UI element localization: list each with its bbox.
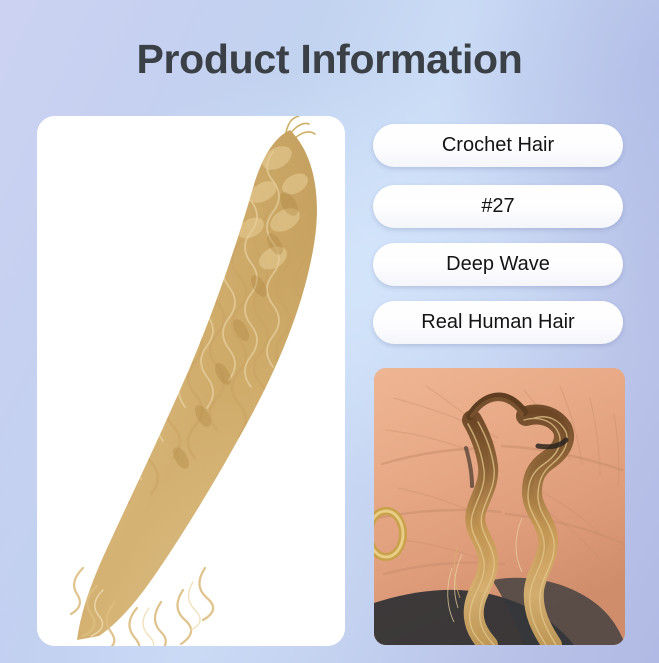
spec-pill-label: Deep Wave [446, 253, 550, 276]
page-title: Product Information [0, 36, 659, 83]
product-image-card [37, 116, 345, 646]
blonde-deep-wave-hair-bundle-icon [37, 116, 345, 646]
spec-pill-material[interactable]: Real Human Hair [373, 301, 623, 344]
spec-pill-color[interactable]: #27 [373, 185, 623, 228]
spec-pill-label: Crochet Hair [442, 134, 554, 157]
spec-pill-label: #27 [481, 195, 514, 218]
spec-pill-label: Real Human Hair [421, 311, 574, 334]
detail-photo-card [374, 368, 625, 645]
spec-pill-crochet-hair[interactable]: Crochet Hair [373, 124, 623, 167]
product-information-page: Product Information [0, 0, 659, 663]
spec-pill-texture[interactable]: Deep Wave [373, 243, 623, 286]
hand-holding-hair-strands-icon [374, 368, 625, 645]
